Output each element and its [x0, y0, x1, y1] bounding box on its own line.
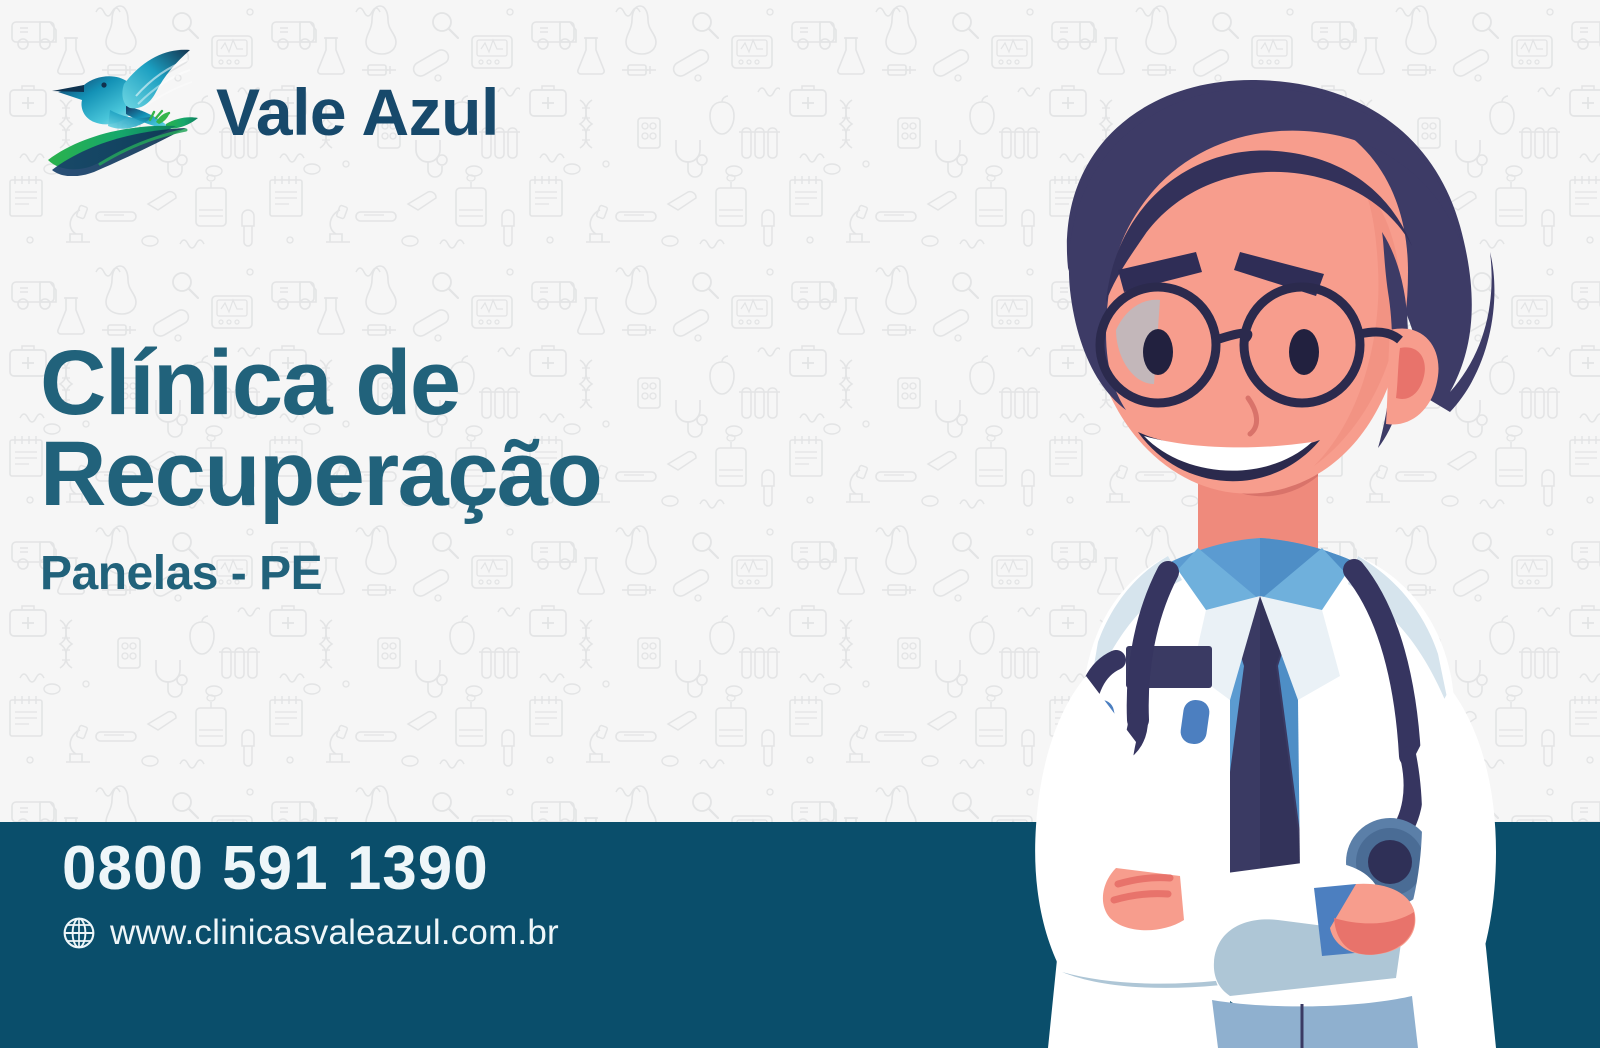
- headline-line-2: Recuperação: [40, 429, 601, 520]
- globe-icon: [62, 916, 96, 950]
- headline-block: Clínica de Recuperação Panelas - PE: [40, 338, 601, 601]
- business-card-banner: Vale Azul Clínica de Recuperação Panelas…: [0, 0, 1600, 1048]
- doctor-illustration: [930, 0, 1600, 1048]
- location-subtitle: Panelas - PE: [40, 546, 601, 601]
- contact-info: 0800 591 1390 www.clinicasvaleazul.com.b…: [62, 836, 559, 953]
- website-row[interactable]: www.clinicasvaleazul.com.br: [62, 913, 559, 953]
- phone-number[interactable]: 0800 591 1390: [62, 836, 559, 901]
- hummingbird-leaf-logo-icon: [40, 48, 220, 176]
- brand-logo[interactable]: Vale Azul: [40, 48, 499, 176]
- headline-line-1: Clínica de: [40, 338, 601, 429]
- brand-name: Vale Azul: [216, 79, 499, 145]
- website-url[interactable]: www.clinicasvaleazul.com.br: [110, 913, 559, 953]
